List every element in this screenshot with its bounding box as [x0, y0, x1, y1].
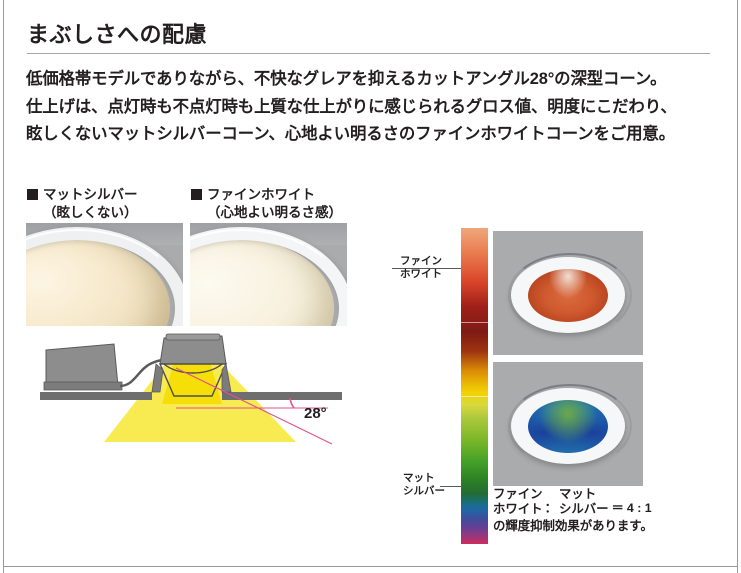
scale-tick	[461, 322, 488, 323]
scale-tick	[461, 396, 488, 397]
luminance-scale-bar	[461, 228, 488, 544]
luminance-image-fine-white	[493, 231, 643, 355]
scale-label-fine-white: ファイン ホワイト	[400, 255, 442, 281]
frame-border-right	[737, 0, 738, 573]
swatch-name-fine-white: ファインホワイト	[207, 187, 315, 202]
ratio-colon-separator: ：	[543, 501, 559, 517]
page-title: まぶしさへの配慮	[27, 17, 207, 49]
driver-box	[46, 344, 118, 386]
body-line-2: 仕上げは、点灯時も不点灯時も上質な仕上がりに感じられるグロス値、明度にこだわり、	[26, 94, 716, 122]
body-line-3: 眩しくないマットシルバーコーン、心地よい明るさのファインホワイトコーンをご用意。	[26, 121, 716, 149]
title-divider	[27, 53, 710, 54]
scale-label-fine-white-line2: ホワイト	[400, 268, 442, 280]
scale-label-matte-silver-line1: マット	[403, 472, 435, 484]
ratio-term2-line2: シルバー	[559, 502, 609, 517]
ratio-term-fine-white: ファイン ホワイト	[493, 487, 543, 517]
frame-border-left	[3, 0, 4, 573]
driver-box-base	[44, 382, 122, 390]
ratio-expression: ファイン ホワイト ： マット シルバー ＝ 4 : 1	[493, 487, 733, 517]
ratio-term1-line2: ホワイト	[493, 502, 543, 517]
ratio-suffix-text: の輝度抑制効果があります。	[493, 518, 733, 535]
luminance-field-matte-silver	[528, 400, 608, 453]
swatch-heading-matte-silver: マットシルバー （眩しくない）	[27, 186, 138, 222]
ratio-term1-line1: ファイン	[493, 487, 543, 502]
scale-label-matte-silver-line2: シルバー	[403, 485, 445, 497]
swatch-note-fine-white: （心地よい明るさ感）	[191, 204, 342, 222]
product-photo-fine-white	[190, 223, 347, 326]
scale-label-fine-white-line1: ファイン	[400, 255, 442, 267]
cut-angle-cross-section-diagram: 28°	[26, 330, 356, 450]
ratio-term-matte-silver: マット シルバー	[559, 487, 609, 517]
scale-label-matte-silver: マット シルバー	[403, 472, 445, 498]
body-paragraph: 低価格帯モデルでありながら、不快なグレアを抑えるカットアングル28°の深型コーン…	[26, 66, 716, 149]
ceiling-slab-left	[40, 392, 152, 400]
page-root: まぶしさへの配慮 低価格帯モデルでありながら、不快なグレアを抑えるカットアングル…	[0, 0, 741, 573]
fixture-housing-top	[166, 334, 220, 340]
swatch-heading-fine-white: ファインホワイト （心地よい明るさ感）	[191, 186, 342, 222]
bullet-square-icon	[27, 189, 38, 200]
luminance-field-fine-white	[528, 269, 608, 322]
product-photo-matte-silver	[26, 223, 183, 326]
ratio-term2-line1: マット	[559, 487, 609, 502]
bullet-square-icon	[191, 189, 202, 200]
frame-border-bottom	[3, 566, 738, 567]
ratio-equals-sign: ＝	[609, 501, 624, 517]
cut-angle-label: 28°	[304, 405, 327, 422]
body-line-1: 低価格帯モデルでありながら、不快なグレアを抑えるカットアングル28°の深型コーン…	[26, 66, 716, 94]
luminance-image-matte-silver	[493, 362, 643, 486]
ratio-value: 4 : 1	[624, 501, 652, 517]
swatch-name-matte-silver: マットシルバー	[43, 187, 138, 202]
ratio-caption: ファイン ホワイト ： マット シルバー ＝ 4 : 1 の輝度抑制効果がありま…	[493, 487, 733, 535]
swatch-note-matte-silver: （眩しくない）	[27, 204, 138, 222]
